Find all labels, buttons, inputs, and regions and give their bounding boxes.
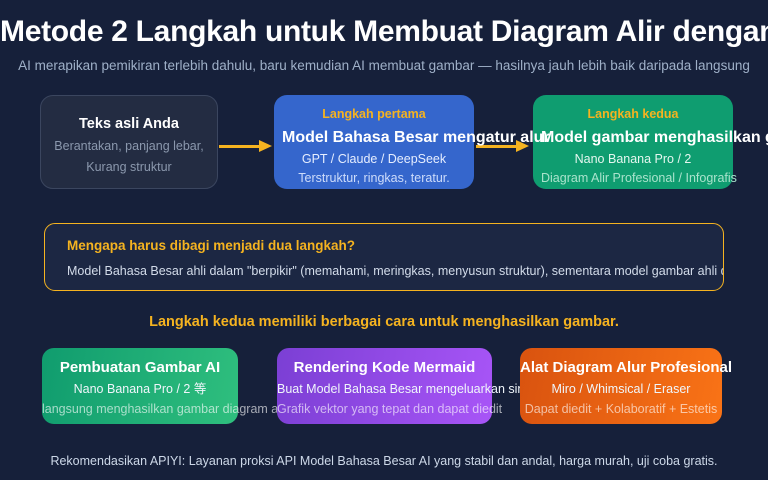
- option-line-1: Buat Model Bahasa Besar mengeluarkan sin…: [277, 379, 492, 399]
- flow-card-line-1: Berantakan, panjang lebar,: [49, 136, 209, 157]
- options-row: Pembuatan Gambar AI Nano Banana Pro / 2 …: [0, 348, 768, 428]
- option-line-1: Nano Banana Pro / 2 等: [42, 379, 238, 399]
- option-line-2: langsung menghasilkan gambar diagram ali…: [42, 399, 238, 419]
- flow-card-eyebrow: Langkah pertama: [282, 105, 466, 123]
- flow-card-line-2: Kurang struktur: [49, 157, 209, 178]
- page-subtitle: AI merapikan pemikiran terlebih dahulu, …: [0, 57, 768, 75]
- explanation-note: Mengapa harus dibagi menjadi dua langkah…: [44, 223, 724, 291]
- infographic-root: Metode 2 Langkah untuk Membuat Diagram A…: [0, 0, 768, 480]
- arrow-head: [259, 140, 272, 152]
- option-line-2: Dapat diedit + Kolaboratif + Estetis: [520, 399, 722, 419]
- option-line-2: Grafik vektor yang tepat dan dapat diedi…: [277, 399, 492, 419]
- flow-card-heading: Teks asli Anda: [49, 112, 209, 136]
- option-line-1: Miro / Whimsical / Eraser: [520, 379, 722, 399]
- option-title: Rendering Kode Mermaid: [277, 357, 492, 379]
- option-card-pro-tools: Alat Diagram Alur Profesional Miro / Whi…: [520, 348, 722, 424]
- arrow-shaft: [219, 145, 261, 148]
- flow-card-original-text: Teks asli Anda Berantakan, panjang lebar…: [40, 95, 218, 189]
- section-heading: Langkah kedua memiliki berbagai cara unt…: [0, 311, 768, 333]
- flow-card-line-1: Nano Banana Pro / 2: [541, 150, 725, 169]
- footer-note: Rekomendasikan APIYI: Layanan proksi API…: [0, 452, 768, 470]
- arrow-right-icon: [219, 139, 275, 153]
- flow-card-line-2: Diagram Alir Profesional / Infografis: [541, 169, 725, 188]
- option-title: Alat Diagram Alur Profesional: [520, 357, 722, 379]
- flow-row: Teks asli Anda Berantakan, panjang lebar…: [0, 95, 768, 193]
- option-card-ai-image: Pembuatan Gambar AI Nano Banana Pro / 2 …: [42, 348, 238, 424]
- page-title: Metode 2 Langkah untuk Membuat Diagram A…: [0, 14, 768, 50]
- flow-card-step-one: Langkah pertama Model Bahasa Besar menga…: [274, 95, 474, 189]
- header: Metode 2 Langkah untuk Membuat Diagram A…: [0, 14, 768, 75]
- option-card-mermaid: Rendering Kode Mermaid Buat Model Bahasa…: [277, 348, 492, 424]
- flow-card-line-1: GPT / Claude / DeepSeek: [282, 150, 466, 169]
- note-title: Mengapa harus dibagi menjadi dua langkah…: [67, 236, 701, 256]
- flow-card-eyebrow: Langkah kedua: [541, 105, 725, 123]
- flow-card-line-2: Terstruktur, ringkas, teratur.: [282, 169, 466, 188]
- option-title: Pembuatan Gambar AI: [42, 357, 238, 379]
- flow-card-heading: Model Bahasa Besar mengatur alur: [282, 126, 466, 150]
- note-body: Model Bahasa Besar ahli dalam "berpikir"…: [67, 262, 701, 280]
- flow-card-heading: Model gambar menghasilkan gambar: [541, 126, 725, 150]
- flow-card-step-two: Langkah kedua Model gambar menghasilkan …: [533, 95, 733, 189]
